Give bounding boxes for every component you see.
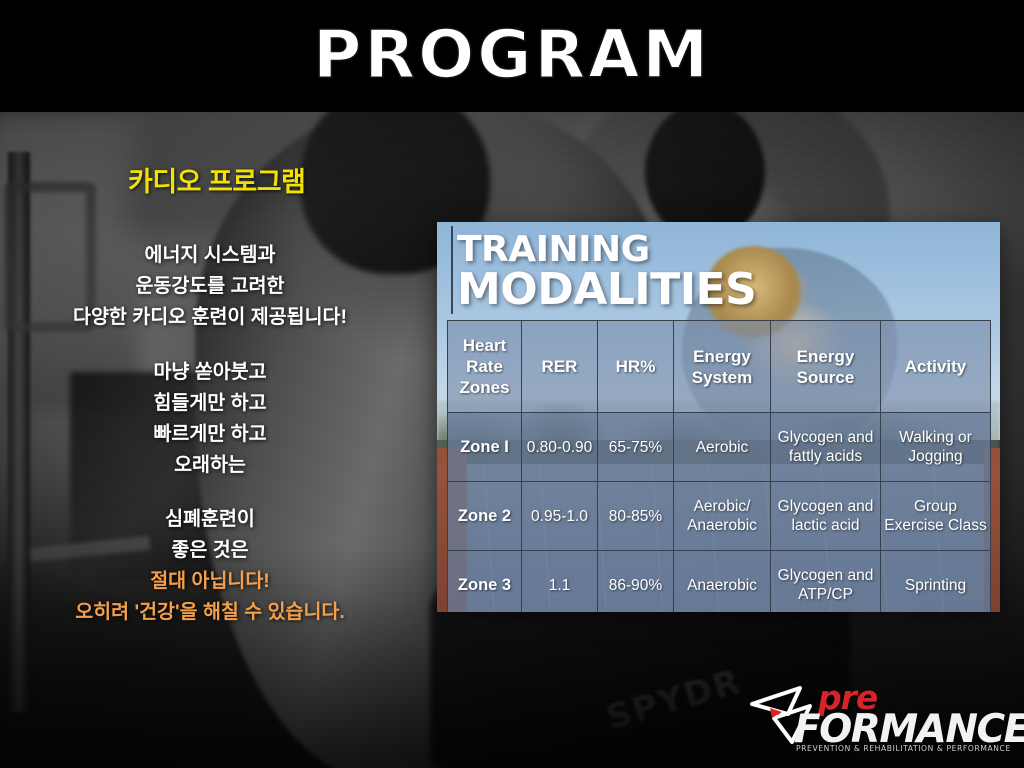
card-title: TRAINING MODALITIES <box>457 228 756 312</box>
cell-zone: Zone 3 <box>448 551 522 613</box>
table-row: Zone I 0.80-0.90 65-75% Aerobic Glycogen… <box>448 413 991 482</box>
cell-zone: Zone 2 <box>448 482 522 551</box>
table-row: Zone 2 0.95-1.0 80-85% Aerobic/ Anaerobi… <box>448 482 991 551</box>
cell-hr: 80-85% <box>598 482 674 551</box>
cell-energy-system: Aerobic <box>674 413 771 482</box>
cell-energy-system: Aerobic/ Anaerobic <box>674 482 771 551</box>
paragraph-line: 마냥 쏟아붓고 <box>0 357 420 388</box>
paragraph-line: 운동강도를 고려한 <box>0 271 420 302</box>
column-header-rer: RER <box>522 321 598 413</box>
table-header-row: Heart Rate Zones RER HR% Energy System E… <box>448 321 991 413</box>
cell-activity: Group Exercise Class <box>881 482 991 551</box>
paragraph-line: 다양한 카디오 훈련이 제공됩니다! <box>0 302 420 333</box>
card-title-line-2: MODALITIES <box>457 268 756 312</box>
cell-energy-source: Glycogen and lactic acid <box>771 482 881 551</box>
cell-hr: 65-75% <box>598 413 674 482</box>
cell-energy-source: Glycogen and fattly acids <box>771 413 881 482</box>
cell-activity: Walking or Jogging <box>881 413 991 482</box>
cell-energy-source: Glycogen and ATP/CP <box>771 551 881 613</box>
paragraph-conclusion: 심폐훈련이 좋은 것은 절대 아닙니다! 오히려 '건강'을 해칠 수 있습니다… <box>0 504 420 628</box>
column-header-activity: Activity <box>881 321 991 413</box>
paragraph-line: 힘들게만 하고 <box>0 388 420 419</box>
training-modalities-card: TRAINING MODALITIES Heart Rate Zones RER… <box>437 222 1000 612</box>
left-text-column: 카디오 프로그램 에너지 시스템과 운동강도를 고려한 다양한 카디오 훈련이 … <box>0 112 440 768</box>
paragraph-line-emphasis: 절대 아닙니다! <box>0 566 420 597</box>
column-header-hr-percent: HR% <box>598 321 674 413</box>
title-band: PROGRAM PROGRAM <box>0 0 1024 112</box>
cell-zone: Zone I <box>448 413 522 482</box>
column-header-energy-source: Energy Source <box>771 321 881 413</box>
page-title: PROGRAM <box>0 16 1024 94</box>
cell-activity: Sprinting <box>881 551 991 613</box>
cell-hr: 86-90% <box>598 551 674 613</box>
column-header-heart-rate-zones: Heart Rate Zones <box>448 321 522 413</box>
paragraph-line: 심폐훈련이 <box>0 504 420 535</box>
table-row: Zone 3 1.1 86-90% Anaerobic Glycogen and… <box>448 551 991 613</box>
paragraph-line-emphasis: 오히려 '건강'을 해칠 수 있습니다. <box>0 597 420 628</box>
logo-tagline: PREVENTION & REHABILITATION & PERFORMANC… <box>796 744 1011 753</box>
paragraph-line: 오래하는 <box>0 450 420 481</box>
column-header-energy-system: Energy System <box>674 321 771 413</box>
paragraph-warning-list: 마냥 쏟아붓고 힘들게만 하고 빠르게만 하고 오래하는 <box>0 357 420 481</box>
cell-rer: 0.95-1.0 <box>522 482 598 551</box>
cell-rer: 1.1 <box>522 551 598 613</box>
preformance-logo: pre FORMANCE PREVENTION & REHABILITATION… <box>746 674 1006 756</box>
card-title-rule <box>451 226 453 314</box>
paragraph-line: 에너지 시스템과 <box>0 240 420 271</box>
training-modalities-table: Heart Rate Zones RER HR% Energy System E… <box>447 320 991 612</box>
section-heading: 카디오 프로그램 <box>128 160 305 199</box>
cell-energy-system: Anaerobic <box>674 551 771 613</box>
slide-root: SPYDR 카디오 프로그램 에너지 시스템과 운동강도를 고려한 다양한 카디… <box>0 0 1024 768</box>
paragraph-line: 좋은 것은 <box>0 535 420 566</box>
paragraph-line: 빠르게만 하고 <box>0 419 420 450</box>
cell-rer: 0.80-0.90 <box>522 413 598 482</box>
paragraph-intro: 에너지 시스템과 운동강도를 고려한 다양한 카디오 훈련이 제공됩니다! <box>0 240 420 333</box>
